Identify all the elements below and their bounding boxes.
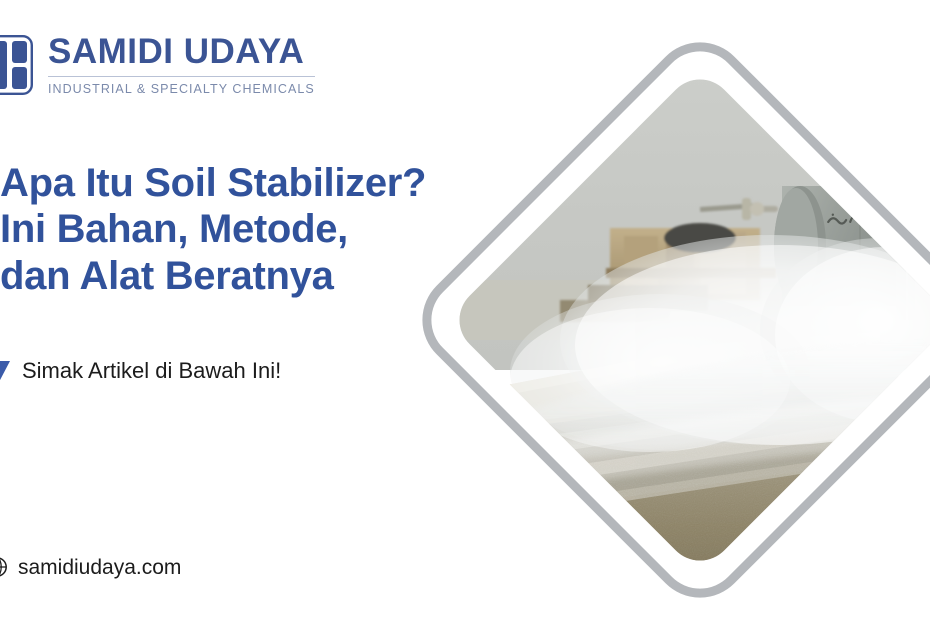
headline: Apa Itu Soil Stabilizer? Ini Bahan, Meto…: [0, 160, 560, 299]
headline-line-1: Apa Itu Soil Stabilizer?: [0, 160, 560, 206]
content-column: SAMIDI UDAYA INDUSTRIAL & SPECIALTY CHEM…: [0, 0, 528, 620]
chevron-down-icon: [0, 358, 12, 384]
headline-line-2: Ini Bahan, Metode,: [0, 206, 560, 252]
headline-line-3: dan Alat Beratnya: [0, 253, 560, 299]
call-to-action-text: Simak Artikel di Bawah Ini!: [22, 360, 281, 382]
globe-icon: [0, 556, 8, 578]
logo-mark-icon: [0, 34, 34, 96]
website-url: samidiudaya.com: [18, 557, 181, 578]
brand-tagline: INDUSTRIAL & SPECIALTY CHEMICALS: [48, 83, 315, 96]
brand-name: SAMIDI UDAYA: [48, 34, 315, 69]
website-footer[interactable]: samidiudaya.com: [0, 556, 181, 578]
promotional-banner: SAMIDI UDAYA INDUSTRIAL & SPECIALTY CHEM…: [0, 0, 930, 620]
brand-logo[interactable]: SAMIDI UDAYA INDUSTRIAL & SPECIALTY CHEM…: [0, 33, 315, 96]
logo-divider: [48, 76, 315, 77]
call-to-action: Simak Artikel di Bawah Ini!: [0, 358, 281, 384]
